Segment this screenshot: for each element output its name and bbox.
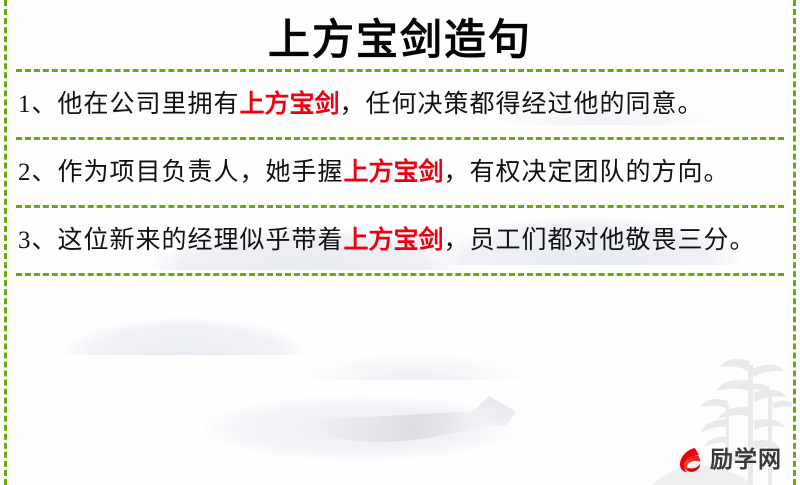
divider-2 — [16, 205, 784, 208]
sentence-text-after: ，员工们都对他敬畏三分。 — [444, 227, 756, 254]
ink-wash-watermark — [250, 290, 580, 380]
boat-watermark — [314, 410, 495, 445]
boat-sail-watermark — [452, 396, 516, 426]
sentence-text-before: 作为项目负责人，她手握 — [58, 159, 344, 186]
page-title: 上方宝剑造句 — [0, 0, 800, 69]
sentence-text-after: ，有权决定团队的方向。 — [444, 159, 730, 186]
ink-wash-watermark — [150, 395, 570, 485]
page-root: 上方宝剑造句 1、他在公司里拥有上方宝剑，任何决策都得经过他的同意。 2、作为项… — [0, 0, 800, 485]
sentence-text-before: 他在公司里拥有 — [58, 91, 240, 118]
sentence-text-before: 这位新来的经理似乎带着 — [58, 227, 344, 254]
sentence-index: 1、 — [18, 91, 58, 118]
flame-swirl-icon — [674, 445, 704, 475]
sentence-text-after: ，任何决策都得经过他的同意。 — [340, 91, 704, 118]
list-item: 2、作为项目负责人，她手握上方宝剑，有权决定团队的方向。 — [0, 140, 800, 205]
site-logo[interactable]: 励学网 — [674, 445, 782, 475]
list-item: 1、他在公司里拥有上方宝剑，任何决策都得经过他的同意。 — [0, 72, 800, 137]
divider-bottom — [16, 273, 784, 276]
keyword-highlight: 上方宝剑 — [344, 157, 444, 186]
list-item: 3、这位新来的经理似乎带着上方宝剑，员工们都对他敬畏三分。 — [0, 208, 800, 273]
keyword-highlight: 上方宝剑 — [344, 225, 444, 254]
sentence-index: 2、 — [18, 159, 58, 186]
site-logo-text: 励学网 — [710, 449, 782, 472]
sentence-list: 1、他在公司里拥有上方宝剑，任何决策都得经过他的同意。 2、作为项目负责人，她手… — [0, 72, 800, 276]
sentence-index: 3、 — [18, 227, 58, 254]
keyword-highlight: 上方宝剑 — [240, 89, 340, 118]
divider-1 — [16, 137, 784, 140]
